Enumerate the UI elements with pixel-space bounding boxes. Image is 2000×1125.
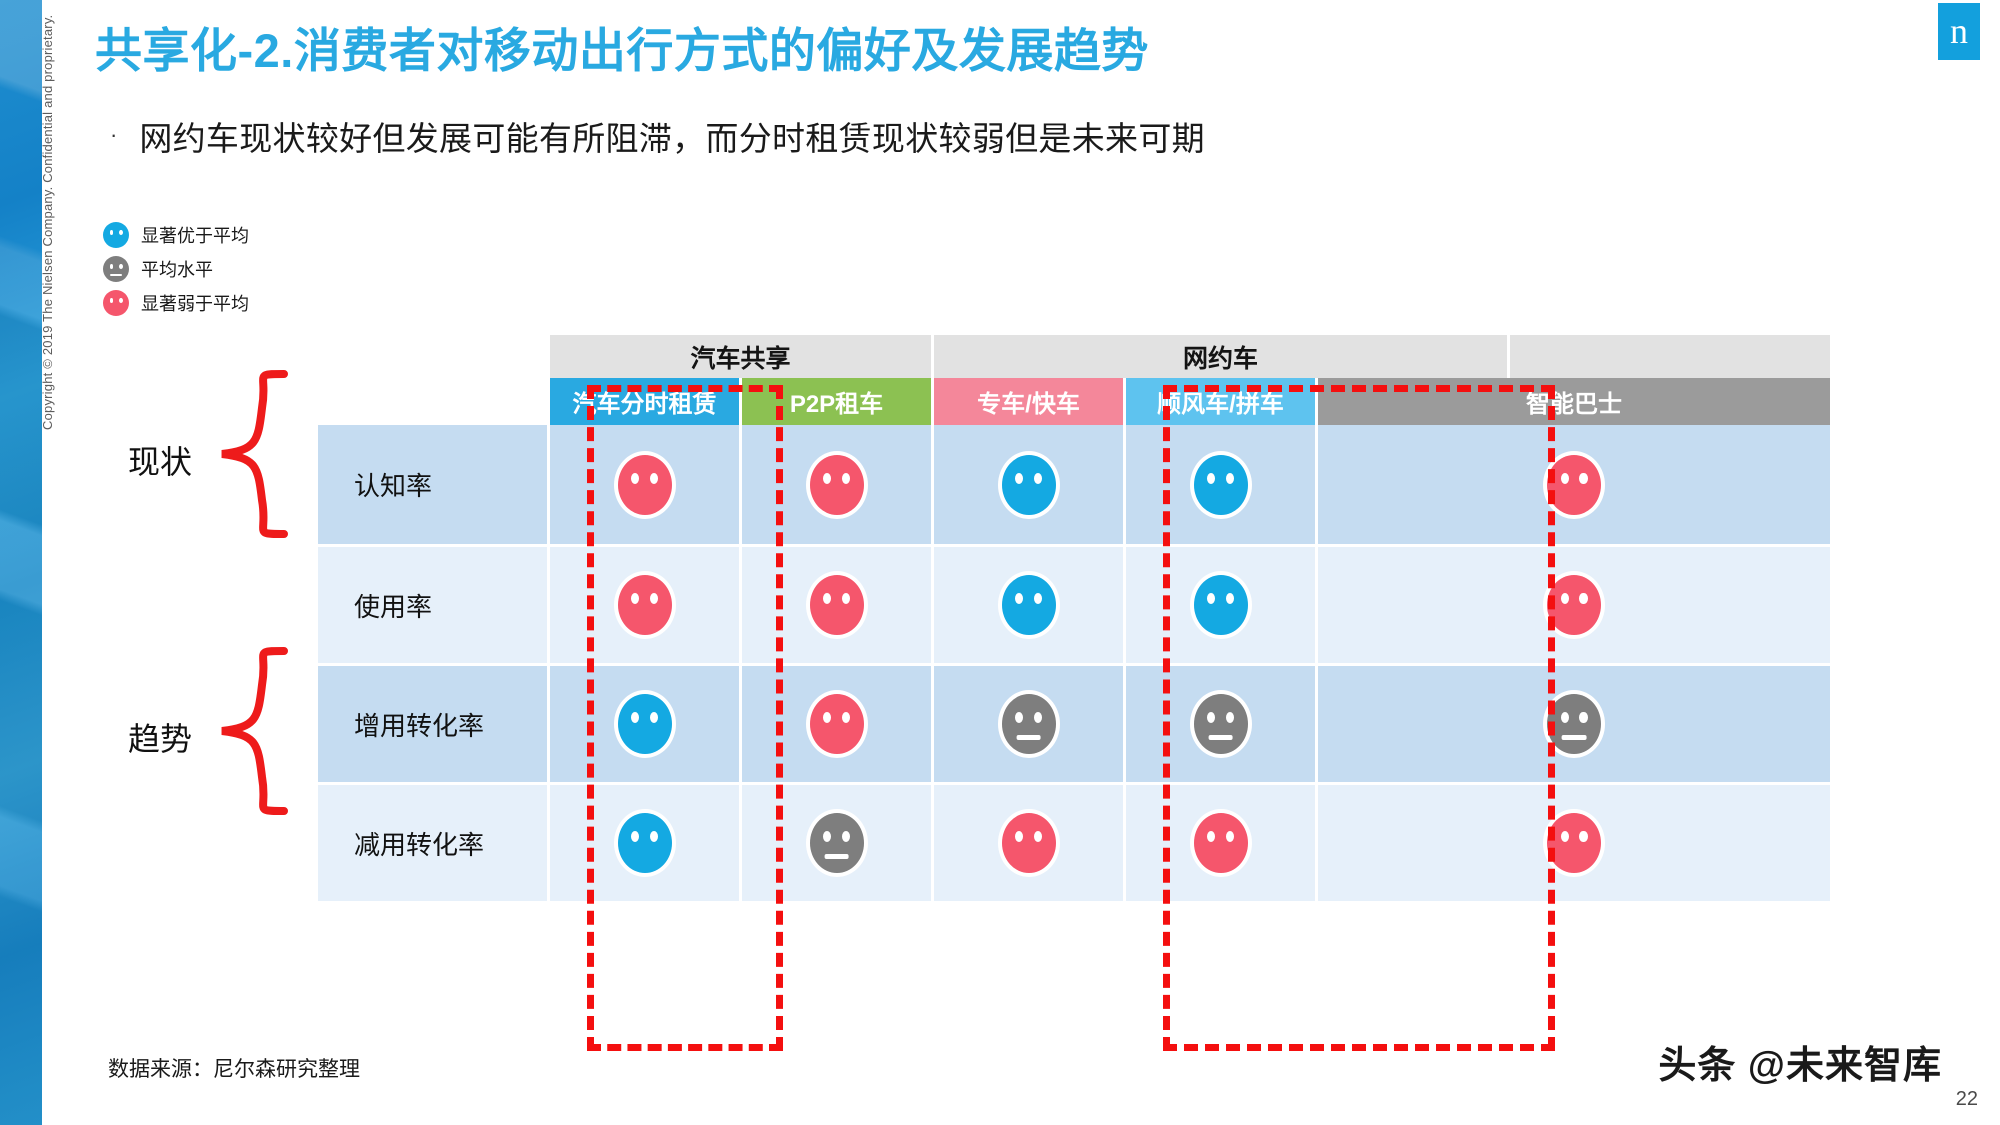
data-source-text: 数据来源：尼尔森研究整理 <box>108 1053 360 1083</box>
sad-face-icon <box>1547 813 1601 873</box>
neutral-face-icon <box>810 813 864 873</box>
happy-face-icon <box>1002 575 1056 635</box>
sad-face-icon <box>1002 813 1056 873</box>
table-row: 使用率 <box>318 544 1830 663</box>
legend-item-label: 平均水平 <box>141 256 213 282</box>
cell-increase-premium-express <box>934 666 1126 782</box>
happy-face-icon <box>1194 575 1248 635</box>
neutral-face-icon <box>1194 694 1248 754</box>
cell-usage-car-timeshare <box>550 547 742 663</box>
cell-awareness-smart-bus <box>1318 425 1830 544</box>
group-header-spacer <box>318 335 550 378</box>
cell-usage-p2p-rental <box>742 547 934 663</box>
legend-item: 显著弱于平均 <box>103 286 249 320</box>
row-group-label-current: 现状 <box>128 437 192 483</box>
sad-face-icon <box>103 290 129 316</box>
bullet-marker-icon: · <box>110 112 117 158</box>
column-header-spacer <box>318 378 550 425</box>
column-header-carpool[interactable]: 顺风车/拼车 <box>1126 378 1318 425</box>
cell-increase-p2p-rental <box>742 666 934 782</box>
legend-item-label: 显著优于平均 <box>141 222 249 248</box>
brace-current <box>212 368 292 540</box>
group-header-ride-hailing: 网约车 <box>934 335 1510 378</box>
page-title: 共享化-2.消费者对移动出行方式的偏好及发展趋势 <box>95 12 1149 81</box>
sad-face-icon <box>810 575 864 635</box>
legend-item-label: 显著弱于平均 <box>141 290 249 316</box>
sad-face-icon <box>1547 575 1601 635</box>
bullet-text: 网约车现状较好但发展可能有所阻滞，而分时租赁现状较弱但是未来可期 <box>139 112 1205 160</box>
bullet-row: · 网约车现状较好但发展可能有所阻滞，而分时租赁现状较弱但是未来可期 <box>110 112 1205 160</box>
column-header-premium-express[interactable]: 专车/快车 <box>934 378 1126 425</box>
sad-face-icon <box>810 694 864 754</box>
sad-face-icon <box>618 575 672 635</box>
legend-item: 平均水平 <box>103 252 249 286</box>
cell-increase-smart-bus <box>1318 666 1830 782</box>
happy-face-icon <box>1194 455 1248 515</box>
cell-usage-carpool <box>1126 547 1318 663</box>
cell-decrease-p2p-rental <box>742 785 934 901</box>
watermark-text: 头条 @未来智库 <box>1658 1034 1942 1089</box>
column-header-car-timeshare[interactable]: 汽车分时租赁 <box>550 378 742 425</box>
copyright-text: Copyright © 2019 The Nielsen Company. Co… <box>40 15 55 430</box>
row-label-awareness: 认知率 <box>318 425 550 544</box>
sad-face-icon <box>810 455 864 515</box>
cell-awareness-premium-express <box>934 425 1126 544</box>
neutral-face-icon <box>1547 694 1601 754</box>
nielsen-logo: n <box>1938 3 1980 60</box>
cell-usage-premium-express <box>934 547 1126 663</box>
neutral-face-icon <box>1002 694 1056 754</box>
neutral-face-icon <box>103 256 129 282</box>
column-header-p2p-rental[interactable]: P2P租车 <box>742 378 934 425</box>
cell-awareness-car-timeshare <box>550 425 742 544</box>
table-row: 减用转化率 <box>318 782 1830 901</box>
cell-decrease-premium-express <box>934 785 1126 901</box>
legend: 显著优于平均 平均水平 显著弱于平均 <box>103 218 249 320</box>
row-group-label-trend: 趋势 <box>128 714 192 760</box>
row-label-increase-conversion: 增用转化率 <box>318 666 550 782</box>
brace-trend <box>212 645 292 817</box>
sad-face-icon <box>618 455 672 515</box>
legend-item: 显著优于平均 <box>103 218 249 252</box>
cell-usage-smart-bus <box>1318 547 1830 663</box>
comparison-table: 汽车共享 网约车 汽车分时租赁 P2P租车 专车/快车 顺风车/拼车 智能巴士 … <box>318 335 1830 901</box>
happy-face-icon <box>1002 455 1056 515</box>
cell-increase-car-timeshare <box>550 666 742 782</box>
column-header-smart-bus[interactable]: 智能巴士 <box>1318 378 1830 425</box>
happy-face-icon <box>618 813 672 873</box>
cell-decrease-smart-bus <box>1318 785 1830 901</box>
cell-awareness-p2p-rental <box>742 425 934 544</box>
sad-face-icon <box>1194 813 1248 873</box>
table-row: 增用转化率 <box>318 663 1830 782</box>
table-group-header-row: 汽车共享 网约车 <box>318 335 1830 378</box>
cell-increase-carpool <box>1126 666 1318 782</box>
row-label-decrease-conversion: 减用转化率 <box>318 785 550 901</box>
table-row: 认知率 <box>318 425 1830 544</box>
cell-decrease-carpool <box>1126 785 1318 901</box>
group-header-car-sharing: 汽车共享 <box>550 335 934 378</box>
sad-face-icon <box>1547 455 1601 515</box>
cell-decrease-car-timeshare <box>550 785 742 901</box>
table-column-header-row: 汽车分时租赁 P2P租车 专车/快车 顺风车/拼车 智能巴士 <box>318 378 1830 425</box>
happy-face-icon <box>103 222 129 248</box>
happy-face-icon <box>618 694 672 754</box>
group-header-blank <box>1510 335 1830 378</box>
left-decorative-band <box>0 0 42 1125</box>
row-label-usage: 使用率 <box>318 547 550 663</box>
page-number: 22 <box>1956 1088 1978 1111</box>
cell-awareness-carpool <box>1126 425 1318 544</box>
